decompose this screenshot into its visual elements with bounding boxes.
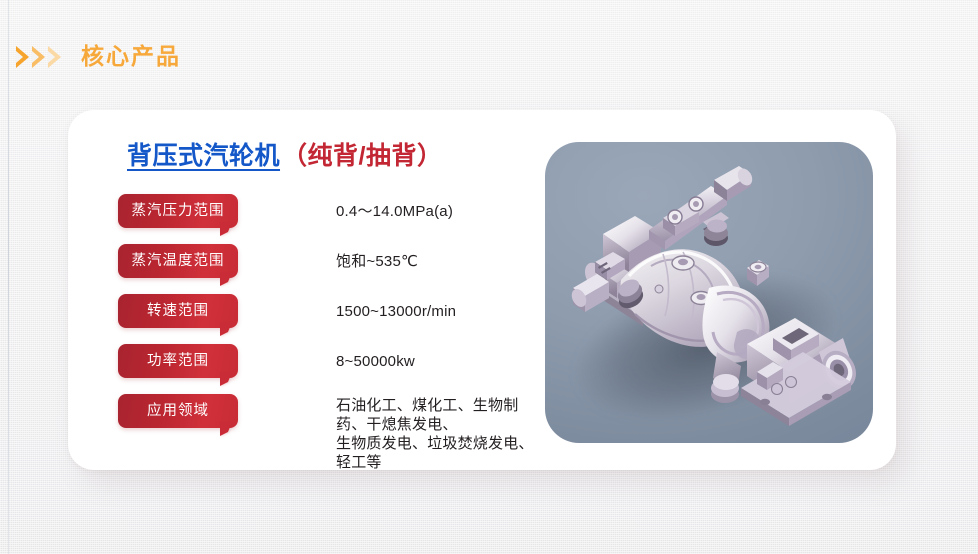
chevron-right-icon-2 bbox=[32, 46, 45, 68]
spec-value: 1500~13000r/min bbox=[336, 302, 456, 321]
spec-value: 0.4～14.0MPa(a) bbox=[336, 202, 453, 221]
spec-label: 蒸汽压力范围 bbox=[132, 204, 225, 219]
spec-label-bubble: 蒸汽压力范围 bbox=[118, 194, 238, 228]
spec-value: 8~50000kw bbox=[336, 352, 415, 371]
spec-value: 石油化工、煤化工、生物制药、干熄焦发电、 生物质发电、垃圾焚烧发电、轻工等 bbox=[336, 396, 548, 472]
product-title: 背压式汽轮机（纯背/抽背） bbox=[127, 144, 442, 169]
spec-row: 蒸汽压力范围 0.4～14.0MPa(a) bbox=[118, 192, 548, 242]
spec-label-bubble: 功率范围 bbox=[118, 344, 238, 378]
product-image-panel bbox=[545, 142, 873, 443]
spec-row: 应用领域 石油化工、煤化工、生物制药、干熄焦发电、 生物质发电、垃圾焚烧发电、轻… bbox=[118, 392, 548, 442]
spec-label: 应用领域 bbox=[147, 404, 209, 419]
steam-turbine-3d-render bbox=[545, 142, 873, 443]
spec-label-bubble: 蒸汽温度范围 bbox=[118, 244, 238, 278]
spec-row: 转速范围 1500~13000r/min bbox=[118, 292, 548, 342]
spec-label-bubble: 转速范围 bbox=[118, 294, 238, 328]
slide-root: 核心产品 背压式汽轮机（纯背/抽背） 蒸汽压力范围 0.4～14.0MPa(a)… bbox=[0, 0, 978, 554]
product-card: 背压式汽轮机（纯背/抽背） 蒸汽压力范围 0.4～14.0MPa(a) 蒸汽温度… bbox=[68, 110, 896, 470]
spec-label: 转速范围 bbox=[147, 304, 209, 319]
chevron-right-icon-3 bbox=[48, 46, 61, 68]
spec-list: 蒸汽压力范围 0.4～14.0MPa(a) 蒸汽温度范围 饱和~535℃ 转速范… bbox=[118, 192, 548, 442]
double-chevron-right-icon bbox=[16, 46, 61, 68]
spec-row: 蒸汽温度范围 饱和~535℃ bbox=[118, 242, 548, 292]
spec-label-bubble: 应用领域 bbox=[118, 394, 238, 428]
spec-value: 饱和~535℃ bbox=[336, 252, 418, 271]
product-title-secondary: （纯背/抽背） bbox=[282, 142, 442, 170]
left-edge-rule bbox=[8, 0, 9, 554]
product-title-primary: 背压式汽轮机 bbox=[127, 142, 280, 170]
page-title: 核心产品 bbox=[81, 45, 181, 68]
spec-row: 功率范围 8~50000kw bbox=[118, 342, 548, 392]
chevron-right-icon-1 bbox=[16, 46, 29, 68]
spec-label: 蒸汽温度范围 bbox=[132, 254, 225, 269]
section-header: 核心产品 bbox=[16, 45, 181, 68]
spec-label: 功率范围 bbox=[147, 354, 209, 369]
